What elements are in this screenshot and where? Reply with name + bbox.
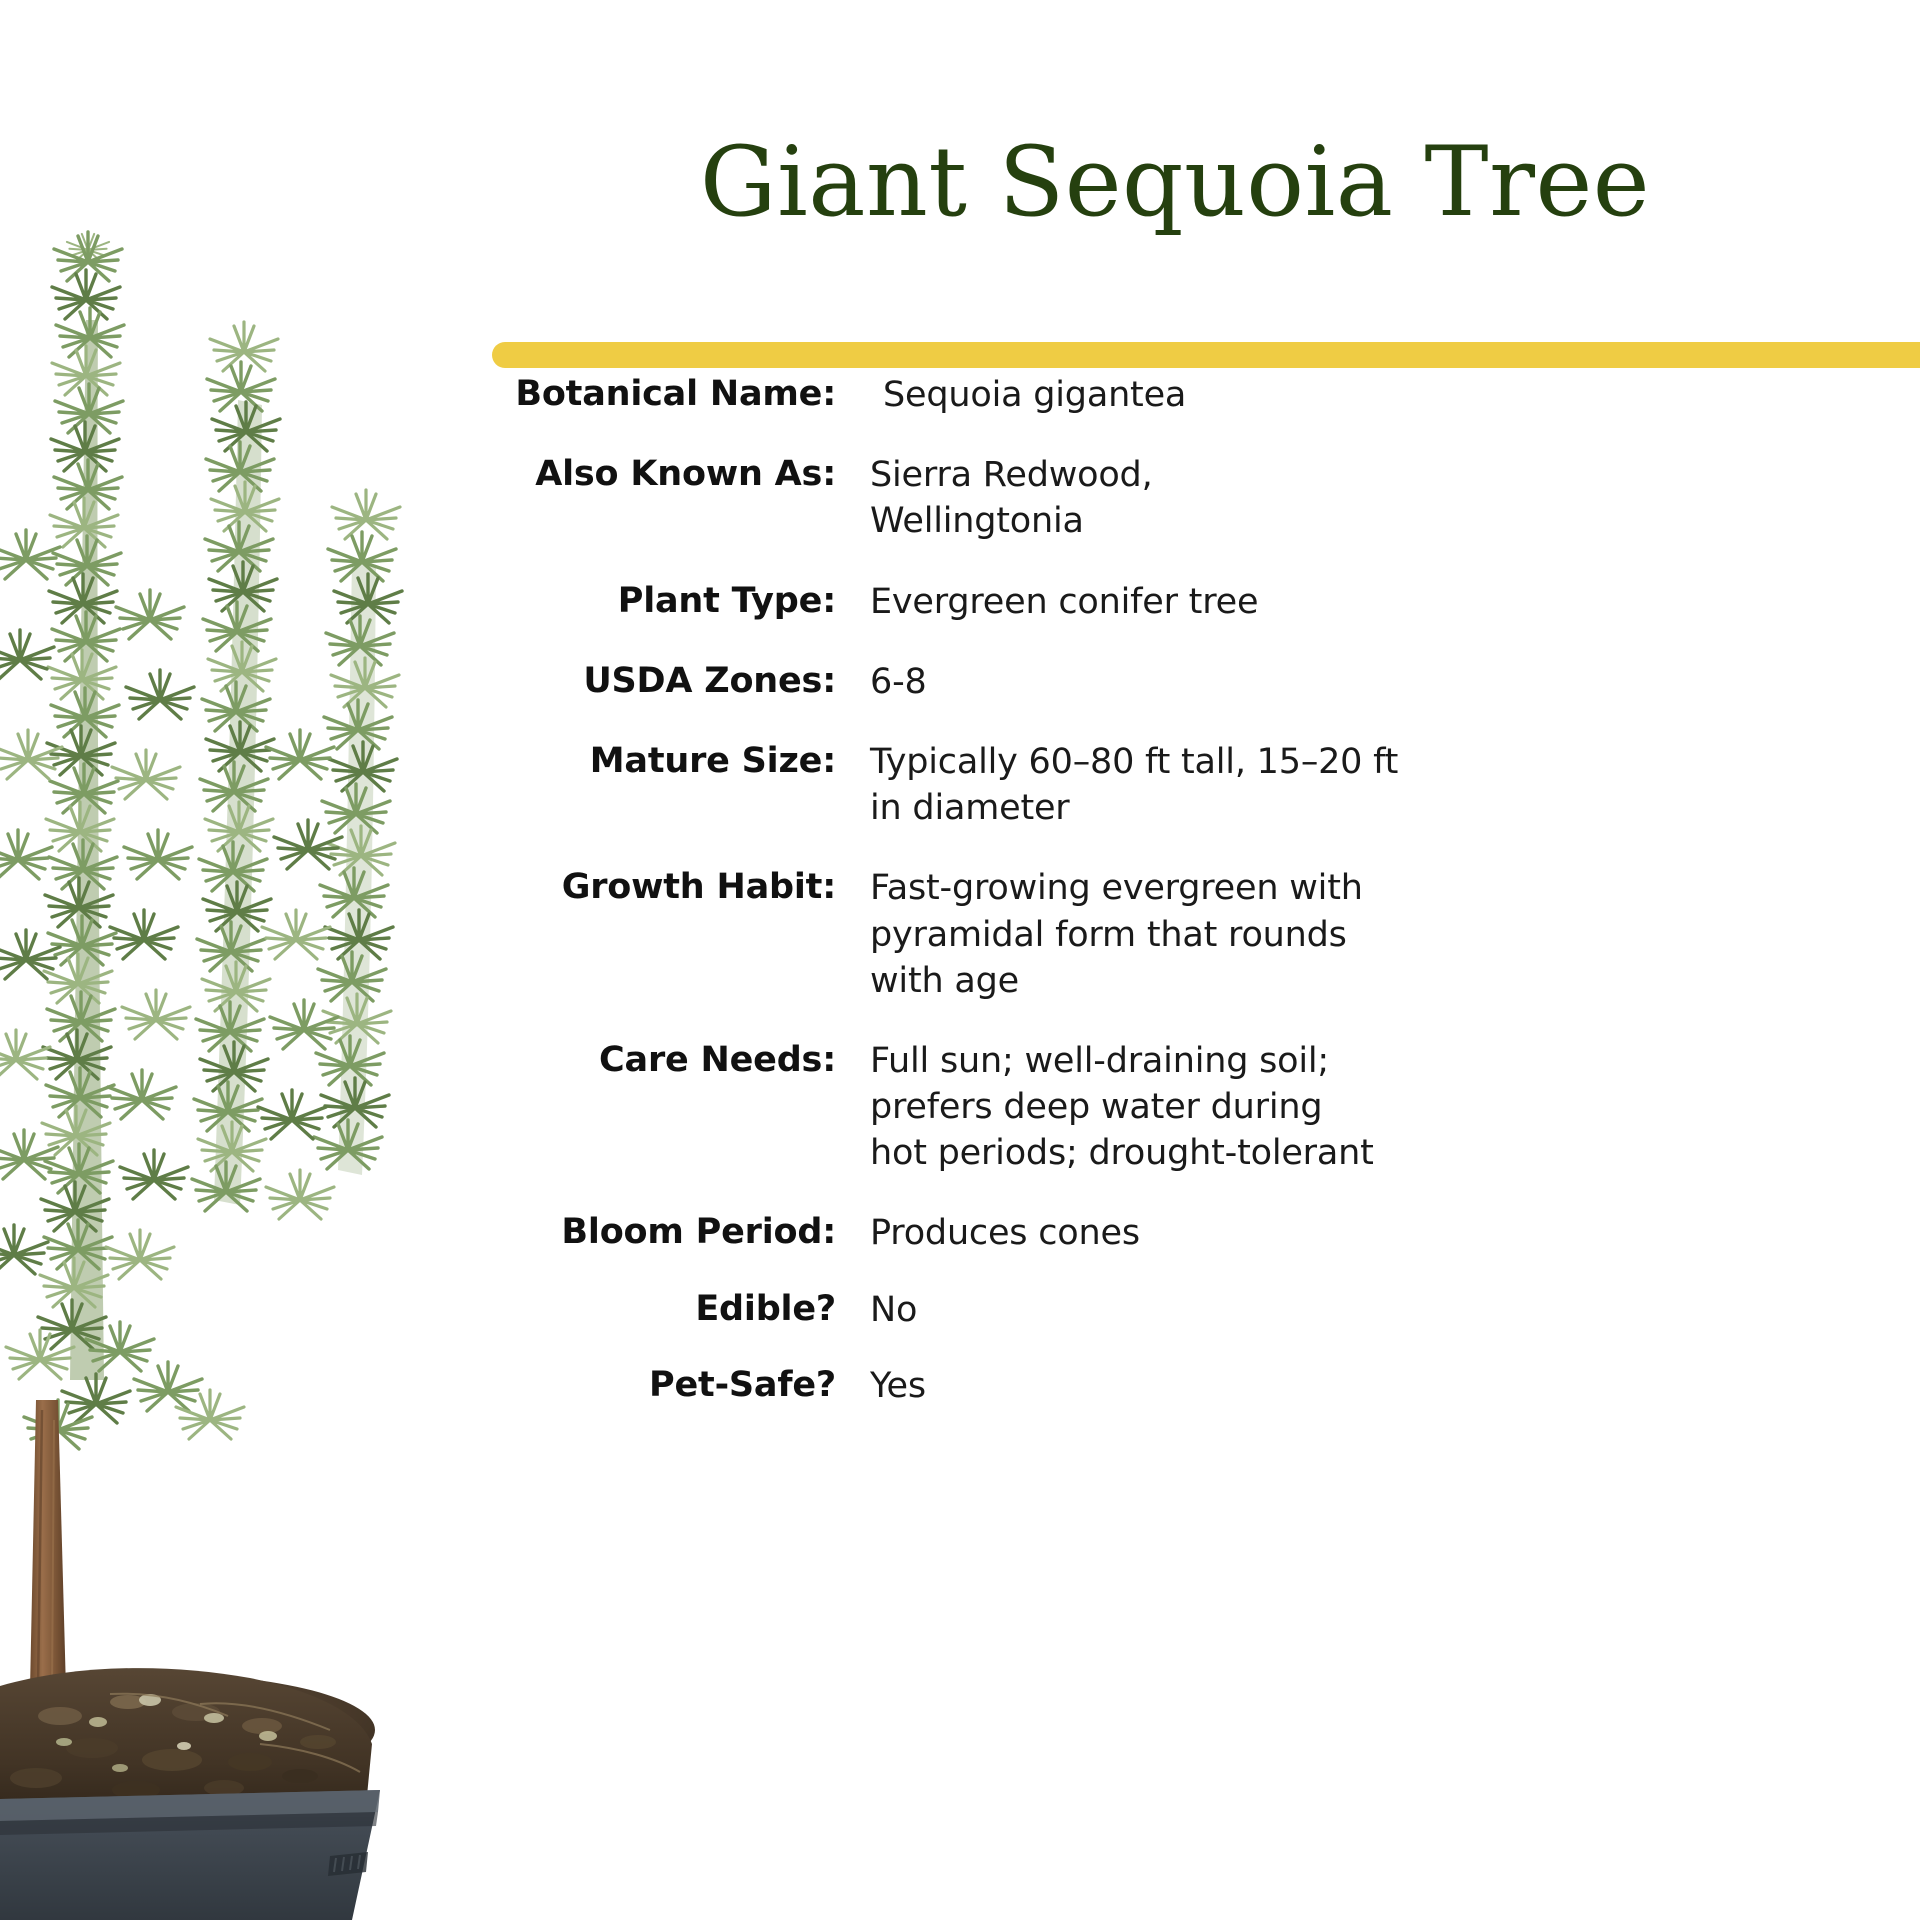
spec-value-pet-safe: Yes — [870, 1363, 1500, 1409]
table-row: Bloom Period: Produces cones — [430, 1210, 1920, 1256]
spec-value-botanical-name: Sequoia gigantea — [870, 372, 1513, 418]
plant-photo — [0, 0, 430, 1920]
plant-spec-table: Botanical Name: Sequoia gigantea Also Kn… — [430, 372, 1920, 1439]
spec-label-pet-safe: Pet-Safe? — [430, 1363, 870, 1409]
table-row: Also Known As: Sierra Redwood, Wellingto… — [430, 452, 1920, 544]
table-row: Botanical Name: Sequoia gigantea — [430, 372, 1920, 418]
spec-label-botanical-name: Botanical Name: — [430, 372, 870, 418]
table-row: Pet-Safe? Yes — [430, 1363, 1920, 1409]
title-divider-bar — [492, 342, 1920, 368]
table-row: Growth Habit: Fast-growing evergreen wit… — [430, 865, 1920, 1004]
spec-label-mature-size: Mature Size: — [430, 739, 870, 785]
spec-value-growth-habit: Fast-growing evergreen with pyramidal fo… — [870, 865, 1500, 1004]
table-row: Care Needs: Full sun; well-draining soil… — [430, 1038, 1920, 1177]
table-row: USDA Zones: 6-8 — [430, 659, 1920, 705]
spec-value-mature-size: Typically 60–80 ft tall, 15–20 ft in dia… — [870, 739, 1500, 831]
table-row: Mature Size: Typically 60–80 ft tall, 15… — [430, 739, 1920, 831]
table-row: Plant Type: Evergreen conifer tree — [430, 579, 1920, 625]
spec-label-also-known-as: Also Known As: — [430, 452, 870, 498]
info-panel: Giant Sequoia Tree Botanical Name: Sequo… — [430, 0, 1920, 1920]
table-row: Edible? No — [430, 1287, 1920, 1333]
spec-value-also-known-as: Sierra Redwood, Wellingtonia — [870, 452, 1500, 544]
spec-value-edible: No — [870, 1287, 1500, 1333]
spec-label-growth-habit: Growth Habit: — [430, 865, 870, 911]
plant-photo-illustration — [0, 0, 430, 1920]
spec-label-usda-zones: USDA Zones: — [430, 659, 870, 705]
page-title: Giant Sequoia Tree — [430, 132, 1920, 234]
spec-label-care-needs: Care Needs: — [430, 1038, 870, 1084]
spec-value-care-needs: Full sun; well-draining soil; prefers de… — [870, 1038, 1500, 1177]
spec-value-plant-type: Evergreen conifer tree — [870, 579, 1500, 625]
spec-label-edible: Edible? — [430, 1287, 870, 1333]
plant-info-card: Giant Sequoia Tree Botanical Name: Sequo… — [0, 0, 1920, 1920]
spec-value-bloom-period: Produces cones — [870, 1210, 1500, 1256]
spec-label-plant-type: Plant Type: — [430, 579, 870, 625]
spec-value-usda-zones: 6-8 — [870, 659, 1500, 705]
spec-label-bloom-period: Bloom Period: — [430, 1210, 870, 1256]
